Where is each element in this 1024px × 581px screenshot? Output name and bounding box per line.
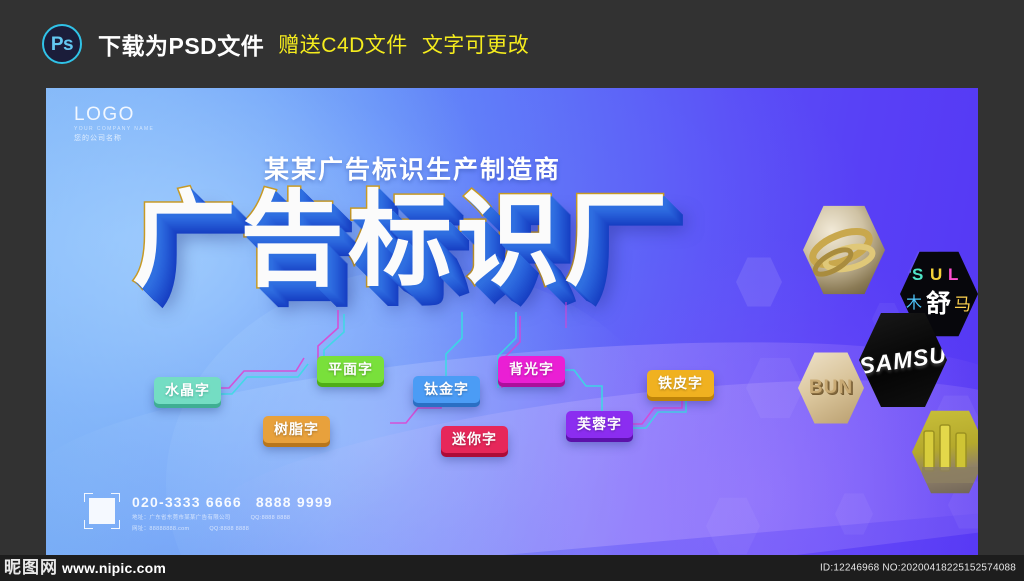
watermark-logo: 昵图网 www.nipic.com: [0, 560, 166, 577]
topbar-primary-text: 下载为PSD文件: [98, 27, 264, 61]
topbar-secondary-text-2: 文字可更改: [422, 34, 530, 57]
bottom-watermark-bar: 昵图网 www.nipic.com ID:12246968 NO:2020041…: [0, 555, 1024, 581]
product-hex-gold-rings[interactable]: [803, 204, 885, 296]
tag-shuzhizi[interactable]: 树脂字: [263, 416, 330, 443]
tag-label: 迷你字: [452, 431, 497, 447]
tag-label: 钛金字: [424, 381, 469, 397]
tag-label: 平面字: [328, 361, 373, 377]
product-hex-yellow-metal[interactable]: [912, 409, 978, 495]
svg-text:U: U: [930, 265, 942, 284]
hex-decor-1: [736, 256, 782, 308]
top-banner-bar: Ps 下载为PSD文件 赠送C4D文件文字可更改: [0, 0, 1024, 88]
product-hex-wood-bun[interactable]: BUN: [798, 351, 864, 425]
contact-phone-1: 020-3333 6666: [132, 494, 242, 510]
svg-text:马: 马: [954, 295, 971, 315]
topbar-secondary-text: 赠送C4D文件文字可更改: [278, 29, 529, 59]
poster-main-title-3d: 广告标识厂: [132, 188, 672, 292]
tag-shuijingzi[interactable]: 水晶字: [154, 377, 221, 404]
contact-qq-2: QQ:8888 8888: [209, 525, 249, 533]
contact-phone-2: 8888 9999: [256, 494, 333, 510]
logo-subtitle-en: YOUR COMPANY NAME: [74, 127, 154, 132]
tag-taijinzi[interactable]: 钛金字: [413, 376, 480, 403]
topbar-secondary-text-1: 赠送C4D文件: [278, 34, 408, 57]
svg-text:L: L: [948, 265, 958, 284]
svg-text:'S: 'S: [908, 265, 923, 284]
qr-code-placeholder-icon: [84, 493, 120, 529]
logo-text: LOGO: [74, 105, 154, 124]
tag-label: 芙蓉字: [577, 416, 622, 432]
poster-logo-block: LOGO YOUR COMPANY NAME 您的公司名称: [74, 105, 154, 142]
hex-decor-6: [706, 496, 760, 555]
poster-contact-block: 020-3333 66668888 9999 地址：广东省东莞市某某广告有限公司…: [84, 493, 333, 533]
bun-caption: BUN: [809, 377, 853, 399]
tag-pingmianzi[interactable]: 平面字: [317, 356, 384, 383]
hex-decor-3: [746, 356, 804, 420]
tag-miniaozi[interactable]: 迷你字: [441, 426, 508, 453]
contact-website-row: 网址：88888888.com QQ:8888 8888: [132, 525, 333, 533]
tag-beiguangzi[interactable]: 背光字: [498, 356, 565, 383]
contact-phones: 020-3333 66668888 9999: [132, 495, 333, 510]
watermark-site-name-cn: 昵图网: [4, 560, 58, 577]
watermark-site-url: www.nipic.com: [62, 561, 166, 575]
tag-label: 树脂字: [274, 421, 319, 437]
photoshop-ps-icon: Ps: [42, 24, 82, 64]
tag-label: 背光字: [509, 361, 554, 377]
tag-label: 铁皮字: [658, 375, 703, 391]
gold-rings-art: [803, 204, 885, 296]
logo-subtitle-cn: 您的公司名称: [74, 135, 154, 142]
hex-decor-5: [835, 492, 873, 536]
contact-address: 广东省东莞市某某广告有限公司: [149, 514, 230, 522]
contact-address-row: 地址：广东省东莞市某某广告有限公司 QQ:8888 8888: [132, 514, 333, 522]
tag-label: 水晶字: [165, 382, 210, 398]
poster-artwork: LOGO YOUR COMPANY NAME 您的公司名称 某某广告标识生产制造…: [46, 88, 978, 555]
tag-furongzi[interactable]: 芙蓉字: [566, 411, 633, 438]
yellow-metal-letters-art: [912, 409, 978, 495]
tag-tiepizi[interactable]: 铁皮字: [647, 370, 714, 397]
svg-text:木: 木: [906, 293, 922, 312]
svg-text:舒: 舒: [926, 289, 951, 318]
image-id-text: ID:12246968 NO:20200418225152574088: [820, 563, 1016, 574]
contact-address-label: 地址：: [132, 514, 149, 522]
ps-icon-glyph: Ps: [51, 35, 73, 54]
samsung-caption: SAMSU: [859, 341, 947, 380]
contact-qq-1: QQ:8888 8888: [251, 514, 291, 522]
contact-website-label: 网址：: [132, 525, 149, 533]
contact-website: 88888888.com: [149, 525, 189, 533]
